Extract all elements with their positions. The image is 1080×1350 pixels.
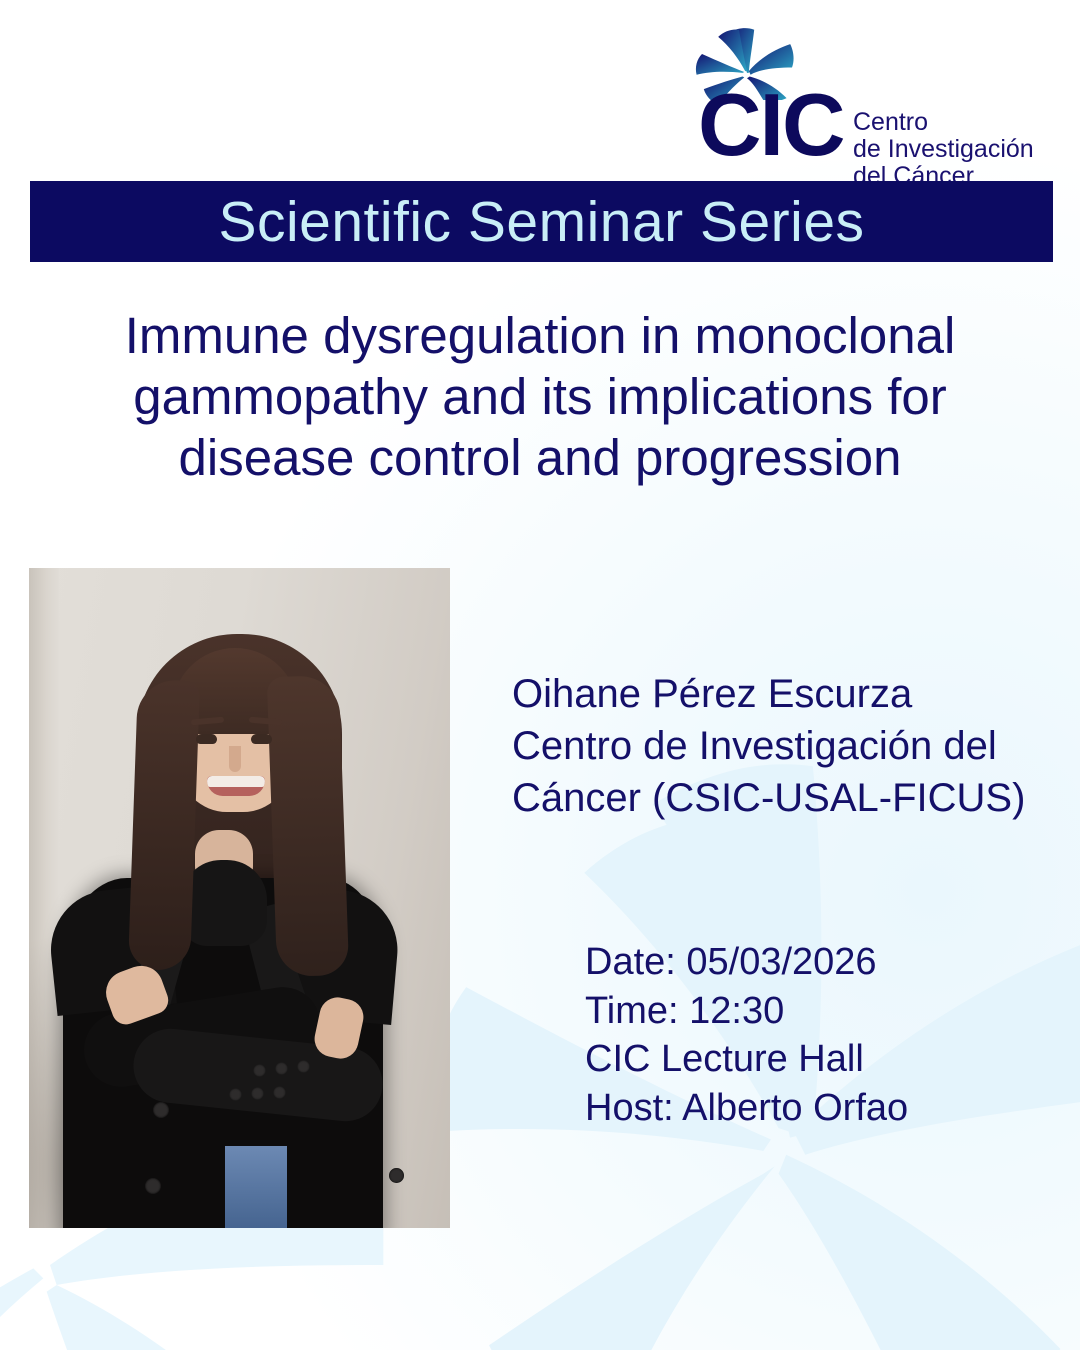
speaker-affiliation-line-1: Centro de Investigación del (512, 720, 1042, 772)
blazer-button (229, 1088, 242, 1101)
event-date: Date: 05/03/2026 (585, 938, 1025, 987)
event-time: Time: 12:30 (585, 987, 1025, 1036)
blazer-button (275, 1062, 288, 1075)
blazer-button (145, 1178, 161, 1194)
cic-logo: CIC Centro de Investigación del Cáncer (693, 26, 1049, 158)
blazer-button (153, 1102, 169, 1118)
blazer-button (273, 1086, 286, 1099)
series-banner-title: Scientific Seminar Series (218, 189, 864, 255)
talk-title-line-3: disease control and progression (70, 427, 1010, 488)
speaker-info: Oihane Pérez Escurza Centro de Investiga… (512, 668, 1042, 824)
speaker-eye-right (251, 734, 272, 744)
blazer-button (297, 1060, 310, 1073)
logo-tagline: Centro de Investigación del Cáncer (853, 109, 1034, 190)
speaker-mouth (207, 776, 265, 796)
speaker-nose (229, 746, 241, 772)
speaker-name: Oihane Pérez Escurza (512, 668, 1042, 720)
speaker-eye-left (196, 734, 217, 744)
speaker-turtleneck (181, 860, 267, 946)
series-banner: Scientific Seminar Series (30, 181, 1053, 262)
speaker-jeans (225, 1146, 287, 1228)
event-host: Host: Alberto Orfao (585, 1084, 1025, 1133)
event-details: Date: 05/03/2026 Time: 12:30 CIC Lecture… (585, 938, 1025, 1133)
speaker-affiliation-line-2: Cáncer (CSIC-USAL-FICUS) (512, 772, 1042, 824)
blazer-button (251, 1087, 264, 1100)
logo-tagline-line-2: de Investigación (853, 136, 1034, 163)
speaker-photo (29, 568, 450, 1228)
logo-tagline-line-1: Centro (853, 109, 1034, 136)
speaker-teeth (207, 776, 265, 787)
talk-title-line-1: Immune dysregulation in monoclonal (70, 305, 1010, 366)
talk-title-line-2: gammopathy and its implications for (70, 366, 1010, 427)
seminar-poster: CIC Centro de Investigación del Cáncer S… (0, 0, 1080, 1350)
blazer-button (253, 1064, 266, 1077)
event-venue: CIC Lecture Hall (585, 1035, 1025, 1084)
logo-wordmark: CIC (698, 88, 844, 163)
talk-title: Immune dysregulation in monoclonal gammo… (70, 305, 1010, 489)
blazer-button (389, 1168, 404, 1183)
speaker-hair-left (128, 679, 200, 971)
